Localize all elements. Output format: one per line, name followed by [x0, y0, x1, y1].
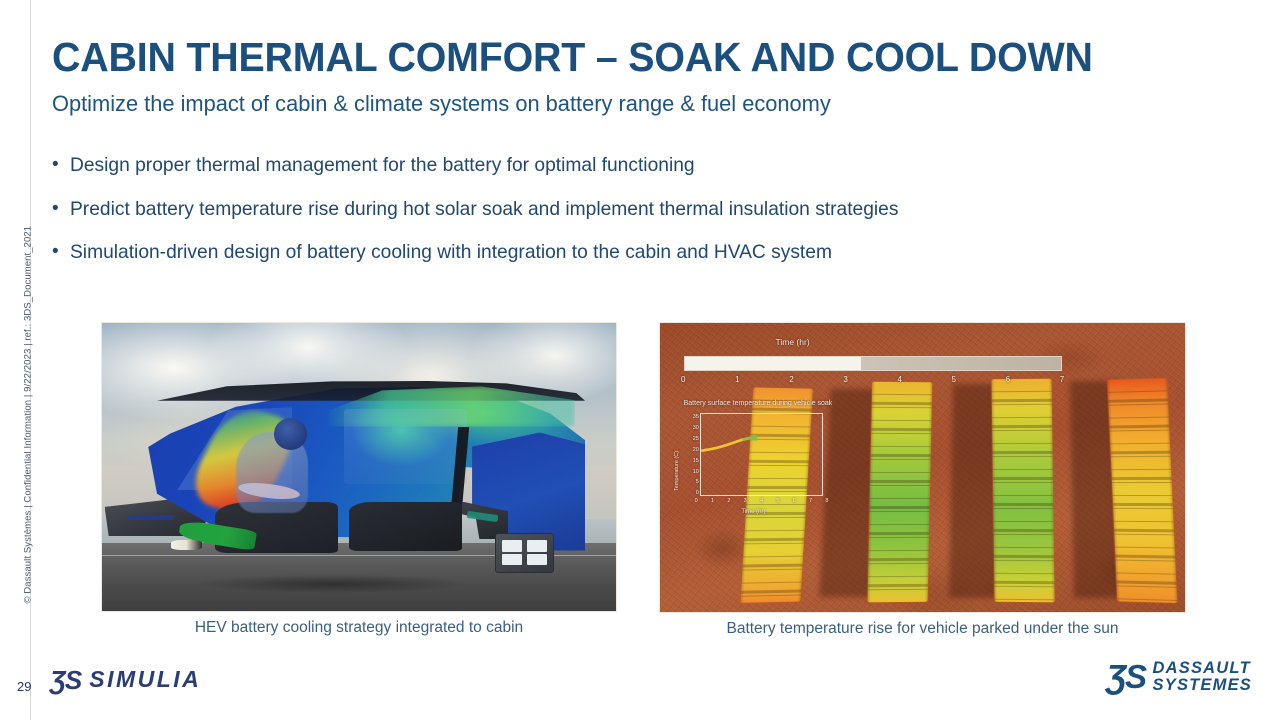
hood-accent	[128, 515, 174, 520]
battery-module	[1107, 379, 1177, 603]
soak-temperature-curve	[701, 414, 822, 496]
simulia-logo: ƷS SIMULIA	[50, 666, 201, 693]
battery-module	[868, 382, 933, 602]
list-item: • Predict battery temperature rise durin…	[52, 196, 1202, 222]
ds-monogram-icon: ƷS	[50, 667, 81, 693]
soak-plot-xlabel: Time (hr)	[741, 509, 765, 515]
bullet-text: Predict battery temperature rise during …	[70, 196, 898, 222]
tick-label: 20	[693, 447, 699, 453]
battery-soak-simulation-image: Time (hr) 0 1 2 3 4 5 6 7 Battery surfac…	[659, 322, 1186, 613]
occupant-head	[274, 418, 307, 450]
bullet-dot-icon: •	[52, 196, 70, 222]
time-slider[interactable]	[684, 356, 1062, 371]
tick-label: 5	[952, 375, 956, 384]
bullet-text: Design proper thermal management for the…	[70, 152, 695, 178]
bullet-dot-icon: •	[52, 152, 70, 178]
tick-label: 4	[760, 498, 763, 504]
soak-plot-title: Battery surface temperature during vehic…	[684, 400, 833, 407]
bullet-dot-icon: •	[52, 239, 70, 265]
tick-label: 0	[695, 498, 698, 504]
figure-hev-cabin: HEV battery cooling strategy integrated …	[101, 322, 617, 637]
tick-label: 3	[744, 498, 747, 504]
time-slider-title: Time (hr)	[776, 337, 810, 347]
time-slider-ticks: 0 1 2 3 4 5 6 7	[681, 375, 1064, 384]
battery-cell	[502, 540, 522, 551]
battery-cell-grid	[496, 534, 553, 571]
rear-seat	[349, 502, 462, 551]
tick-label: 3	[843, 375, 847, 384]
vehicle-shadow	[143, 571, 523, 597]
tick-label: 15	[693, 458, 699, 464]
confidential-legal-text: © Dassault Systèmes | Confidential Infor…	[23, 184, 34, 604]
battery-cell	[527, 540, 547, 551]
tick-label: 35	[693, 414, 699, 420]
tick-label: 2	[789, 375, 793, 384]
soak-plot-area	[700, 413, 823, 497]
module-tabs	[868, 382, 933, 602]
tick-label: 4	[897, 375, 901, 384]
list-item: • Simulation-driven design of battery co…	[52, 239, 1202, 265]
tick-label: 30	[693, 425, 699, 431]
tick-label: 25	[693, 436, 699, 442]
bullet-list: • Design proper thermal management for t…	[52, 152, 1202, 283]
soak-plot-xticks: 0 1 2 3 4 5 6 7 8	[695, 498, 829, 504]
tick-label: 6	[1006, 375, 1010, 384]
tick-label: 8	[825, 498, 828, 504]
page-subtitle: Optimize the impact of cabin & climate s…	[52, 91, 831, 117]
tick-label: 7	[809, 498, 812, 504]
tick-label: 5	[696, 479, 699, 485]
hev-cabin-simulation-image	[101, 322, 617, 612]
dassault-systemes-logo: ƷS DASSAULT SYSTEMES	[1106, 660, 1252, 694]
dassault-line-2: SYSTEMES	[1153, 677, 1252, 694]
module-tabs	[992, 379, 1055, 602]
tick-label: 2	[727, 498, 730, 504]
figure-caption: Battery temperature rise for vehicle par…	[659, 620, 1186, 638]
dassault-wordmark: DASSAULT SYSTEMES	[1153, 660, 1252, 694]
ds-monogram-icon: ƷS	[1106, 660, 1145, 693]
simulia-wordmark: SIMULIA	[89, 666, 201, 693]
bullet-text: Simulation-driven design of battery cool…	[70, 239, 832, 265]
tick-label: 0	[681, 375, 685, 384]
tick-label: 1	[711, 498, 714, 504]
side-window-glass	[344, 409, 467, 484]
occupant-shoe	[171, 540, 202, 550]
tick-label: 5	[776, 498, 779, 504]
battery-module	[992, 379, 1055, 602]
page-number: 29	[17, 679, 31, 694]
tick-label: 1	[735, 375, 739, 384]
tick-label: 0	[696, 490, 699, 496]
list-item: • Design proper thermal management for t…	[52, 152, 1202, 178]
figure-caption: HEV battery cooling strategy integrated …	[101, 619, 617, 637]
tick-label: 10	[693, 469, 699, 475]
soak-plot-yticks: 35 30 25 20 15 10 5 0	[678, 414, 699, 496]
tick-label: 7	[1060, 375, 1064, 384]
time-slider-fill	[861, 357, 1060, 370]
battery-cooling-module	[495, 533, 554, 572]
figure-battery-soak: Time (hr) 0 1 2 3 4 5 6 7 Battery surfac…	[659, 322, 1186, 638]
battery-cell	[502, 554, 522, 565]
page-title: CABIN THERMAL COMFORT – SOAK AND COOL DO…	[52, 36, 1093, 79]
dassault-line-1: DASSAULT	[1153, 660, 1252, 677]
battery-cell	[527, 554, 547, 565]
tick-label: 6	[793, 498, 796, 504]
